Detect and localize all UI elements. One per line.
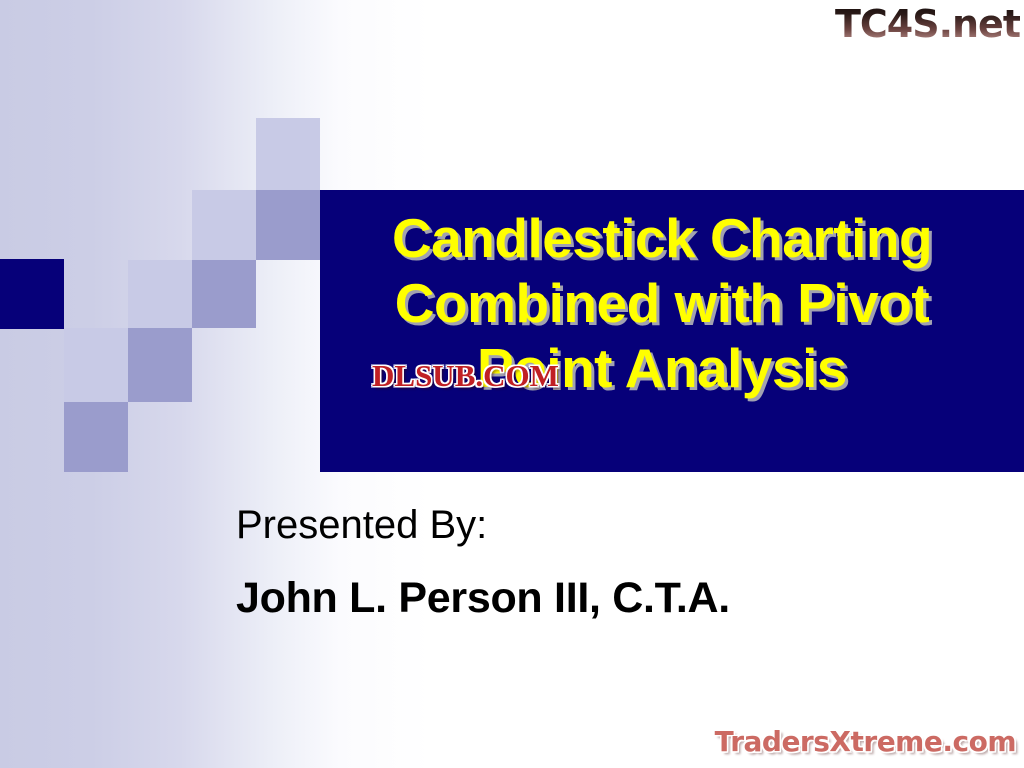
watermark-tradersxtreme: TradersXtreme.com: [715, 725, 1016, 758]
presenter-block: Presented By: John L. Person III, C.T.A.: [236, 505, 730, 620]
mid-square-lower: [128, 328, 192, 402]
author-name: John L. Person III, C.T.A.: [236, 577, 730, 620]
presented-by-label: Presented By:: [236, 505, 730, 545]
navy-square-isolated: [0, 259, 64, 329]
presentation-slide: Candlestick Charting Combined with Pivot…: [0, 0, 1024, 768]
light-square-lower: [64, 328, 128, 402]
mid-square-middle: [192, 260, 256, 328]
watermark-tc4s: TC4S.net: [835, 2, 1020, 46]
light-square-top: [256, 118, 320, 190]
title-line-2: Combined with Pivot: [300, 271, 1024, 336]
light-square-middle: [128, 260, 192, 328]
light-square-upper-left: [192, 190, 256, 260]
title-line-1: Candlestick Charting: [300, 206, 1024, 271]
watermark-dlsub: DLSUB.COM: [372, 358, 559, 394]
mid-square-bottom: [64, 402, 128, 472]
